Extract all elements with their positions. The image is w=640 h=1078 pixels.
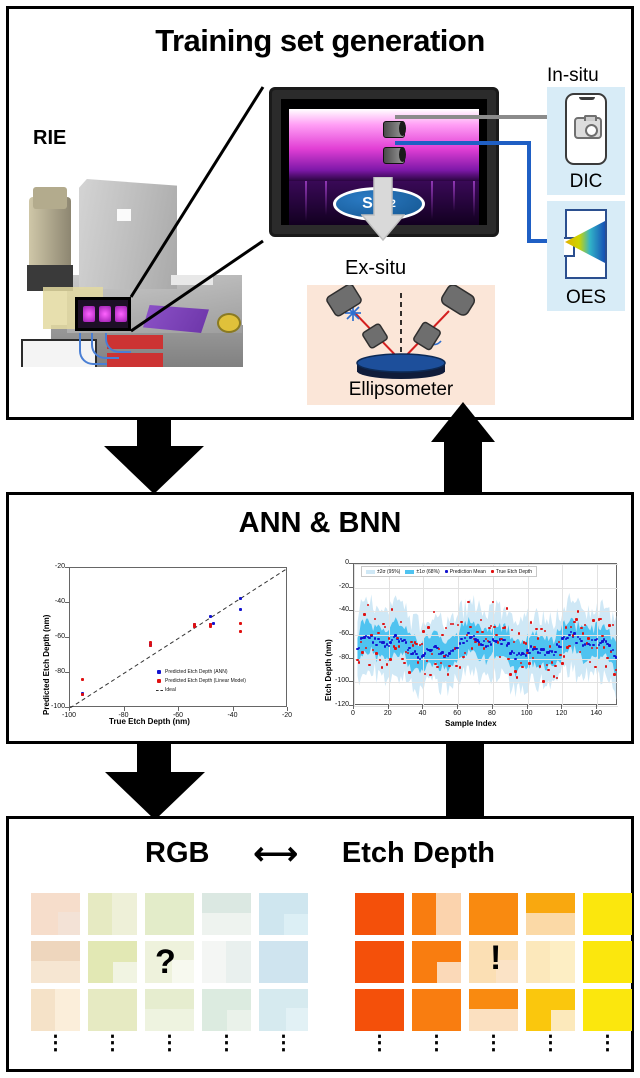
rgb-continuation-dots: ⋮⋮⋮⋮⋮: [31, 1041, 308, 1046]
rgb-subblock: [55, 989, 80, 1031]
true-depth-point: [520, 662, 522, 664]
true-depth-point: [554, 665, 556, 667]
depth-cell[interactable]: [469, 989, 518, 1031]
legend-swatch: [405, 570, 414, 574]
spectrum-fan-icon: [563, 219, 611, 265]
depth-ellipsis: ⋮: [583, 1041, 632, 1046]
true-depth-point: [433, 611, 435, 613]
legend-swatch: [157, 679, 161, 683]
true-depth-point: [565, 626, 567, 628]
depth-cell[interactable]: [583, 989, 632, 1031]
x-tick-label: 120: [551, 710, 571, 717]
depth-subblock: [355, 961, 404, 983]
true-depth-point: [363, 613, 365, 615]
true-depth-point: [412, 644, 414, 646]
true-depth-point: [361, 651, 363, 653]
depth-column: [355, 893, 404, 1031]
prediction-mean-point: [382, 641, 384, 643]
y-tick-label: -80: [45, 668, 65, 675]
dic-instrument: DIC: [547, 87, 625, 195]
true-depth-point: [459, 666, 461, 668]
prediction-mean-point: [575, 642, 577, 644]
arrow4-shaft: [446, 744, 484, 816]
x-tick-label: 140: [586, 710, 606, 717]
camera-icon: [574, 117, 602, 139]
dic-phone-icon: [565, 93, 607, 165]
depth-column: [583, 893, 632, 1031]
true-depth-point: [434, 663, 436, 665]
y-gridline: [354, 706, 618, 707]
legend-swatch: [366, 570, 375, 574]
y-tick: [65, 707, 69, 708]
x-tick-label: 60: [447, 710, 467, 717]
true-depth-point: [447, 673, 449, 675]
legend-label: ±2σ (95%): [377, 569, 400, 575]
true-depth-point: [381, 666, 383, 668]
true-depth-point: [540, 628, 542, 630]
depth-subblock: [382, 912, 404, 935]
true-depth-point: [497, 641, 499, 643]
rgb-subblock: [284, 914, 309, 935]
arrow2-shaft: [444, 440, 482, 494]
y-tick: [65, 602, 69, 603]
x-tick-label: 40: [412, 710, 432, 717]
x-tick: [69, 707, 70, 711]
true-depth-point: [382, 623, 384, 625]
rgb-subblock: [145, 1009, 194, 1031]
y-tick-label: -120: [327, 701, 349, 708]
depth-cell[interactable]: [526, 941, 575, 983]
legend-label: Prediction Mean: [450, 569, 486, 575]
prediction-mean-point: [568, 634, 570, 636]
true-depth-point: [535, 628, 537, 630]
depth-column: [526, 893, 575, 1031]
legend-label: Predicted Etch Depth (ANN): [165, 669, 228, 675]
rgb-cell[interactable]: [259, 941, 308, 983]
y-tick: [349, 681, 353, 682]
prediction-mean-point: [448, 652, 450, 654]
y-tick: [349, 587, 353, 588]
true-depth-point: [537, 637, 539, 639]
x-tick-label: -100: [60, 712, 78, 719]
x-tick: [457, 705, 458, 709]
y-tick: [65, 567, 69, 568]
depth-ellipsis: ⋮: [355, 1041, 404, 1046]
prediction-mean-point: [580, 640, 582, 642]
ideal-line: [70, 568, 288, 708]
legend-label: True Etch Depth: [496, 569, 532, 575]
true-depth-point: [584, 624, 586, 626]
page-title: Training set generation: [9, 23, 631, 59]
true-depth-point: [368, 664, 370, 666]
bnn-uncertainty-chart: Etch Depth (nm) Sample Index 02040608010…: [315, 551, 627, 737]
ellipsometer-label: Ellipsometer: [307, 379, 495, 401]
prediction-mean-point: [459, 642, 461, 644]
ann-point: [209, 615, 212, 618]
rgb-cell[interactable]: [202, 893, 251, 935]
x-tick: [388, 705, 389, 709]
true-depth-point: [460, 621, 462, 623]
true-depth-point: [546, 664, 548, 666]
true-depth-point: [587, 637, 589, 639]
rgb-cell[interactable]: [88, 989, 137, 1031]
prediction-mean-point: [388, 645, 390, 647]
true-depth-point: [528, 662, 530, 664]
true-depth-point: [495, 634, 497, 636]
y-tick-label: -60: [327, 630, 349, 637]
prediction-mean-point: [525, 654, 527, 656]
true-depth-point: [539, 665, 541, 667]
rgb-subblock: [286, 1008, 308, 1031]
depth-subblock: [436, 893, 461, 935]
legend-label: Predicted Etch Depth (Linear Model): [165, 678, 246, 684]
depth-cell[interactable]: [526, 989, 575, 1031]
x-tick: [527, 705, 528, 709]
arrow1-head: [104, 446, 204, 494]
x-tick-label: -40: [224, 712, 242, 719]
y-tick-label: -100: [45, 703, 65, 710]
true-depth-point: [375, 652, 377, 654]
prediction-mean-point: [535, 648, 537, 650]
ann-bnn-panel: ANN & BNN Predicted Etch Depth (nm) True…: [6, 492, 634, 744]
depth-subblock: [526, 913, 575, 935]
true-depth-point: [563, 655, 565, 657]
x-tick: [124, 707, 125, 711]
y-tick-label: -20: [327, 583, 349, 590]
true-depth-point: [592, 619, 594, 621]
y-gridline: [354, 588, 618, 589]
depth-cell[interactable]: [355, 989, 404, 1031]
legend-swatch: [157, 670, 161, 674]
true-depth-point: [427, 626, 429, 628]
rgb-ellipsis: ⋮: [202, 1041, 251, 1046]
true-depth-point: [408, 671, 410, 673]
prediction-mean-point: [374, 637, 376, 639]
true-depth-point: [493, 626, 495, 628]
rgb-cell[interactable]: [202, 941, 251, 983]
depth-column: [412, 893, 461, 1031]
rie-equipment-photo: [21, 157, 243, 367]
x-tick: [561, 705, 562, 709]
ellipsometer-illustration: Ellipsometer: [307, 285, 495, 405]
legend-label: Ideal: [165, 687, 176, 693]
y-tick: [349, 658, 353, 659]
x-tick: [287, 707, 288, 711]
depth-cell[interactable]: [355, 893, 404, 935]
y-tick-label: -40: [45, 598, 65, 605]
oes-label: OES: [547, 287, 625, 309]
depth-cell[interactable]: [412, 941, 461, 983]
y-tick-label: -20: [45, 563, 65, 570]
true-depth-point: [606, 657, 608, 659]
y-tick-label: -60: [45, 633, 65, 640]
linear-point: [209, 625, 212, 628]
x-tick: [233, 707, 234, 711]
true-depth-point: [429, 674, 431, 676]
prediction-mean-point: [473, 635, 475, 637]
x-tick-label: 20: [378, 710, 398, 717]
x-tick: [422, 705, 423, 709]
true-depth-point: [521, 666, 523, 668]
prediction-mean-point: [462, 642, 464, 644]
y-tick-label: -100: [327, 677, 349, 684]
rie-label: RIE: [33, 127, 66, 150]
magnified-region-box: [75, 297, 131, 331]
legend-label: ±1σ (68%): [416, 569, 439, 575]
rgb-cell[interactable]: [88, 941, 137, 983]
true-depth-point: [480, 619, 482, 621]
true-depth-point: [591, 647, 593, 649]
rgb-column: [202, 893, 251, 1031]
true-depth-point: [455, 665, 457, 667]
x-tick-label: 0: [343, 710, 363, 717]
depth-cell[interactable]: [412, 893, 461, 935]
arrow2-head: [431, 402, 495, 442]
ann-parity-chart: Predicted Etch Depth (nm) True Etch Dept…: [33, 555, 303, 735]
true-depth-point: [525, 642, 527, 644]
ann-point: [239, 608, 242, 611]
rgb-cell[interactable]: [259, 989, 308, 1031]
true-depth-point: [396, 637, 398, 639]
true-depth-point: [561, 662, 563, 664]
legend-swatch: [445, 570, 448, 573]
rgb-column: [31, 893, 80, 1031]
true-depth-point: [608, 624, 610, 626]
rgb-column: [259, 893, 308, 1031]
rgb-ellipsis: ⋮: [145, 1041, 194, 1046]
depth-ellipsis: ⋮: [526, 1041, 575, 1046]
prediction-mean-point: [551, 650, 553, 652]
y-tick: [65, 672, 69, 673]
depth-subblock: [608, 914, 633, 935]
true-depth-point: [388, 637, 390, 639]
legend-swatch: [491, 570, 494, 573]
oes-instrument: OES: [547, 201, 625, 311]
x-tick-label: 100: [517, 710, 537, 717]
bnn-legend: ±2σ (95%)±1σ (68%)Prediction MeanTrue Et…: [361, 566, 537, 577]
depth-cell[interactable]: [412, 989, 461, 1031]
y-tick-label: 0: [327, 559, 349, 566]
y-tick-label: -80: [327, 654, 349, 661]
unknown-question-mark: ?: [155, 943, 176, 982]
true-depth-point: [481, 631, 483, 633]
x-tick: [596, 705, 597, 709]
rgb-etch-depth-panel: RGB ⟷ Etch Depth ? ! ⋮⋮⋮⋮⋮ ⋮⋮⋮⋮⋮: [6, 816, 634, 1072]
depth-cell[interactable]: [583, 893, 632, 935]
y-tick: [349, 705, 353, 706]
depth-subblock: [550, 941, 575, 983]
prediction-mean-point: [573, 632, 575, 634]
true-depth-point: [467, 601, 469, 603]
depth-subblock: [551, 1010, 576, 1031]
prediction-mean-point: [405, 641, 407, 643]
true-depth-point: [514, 670, 516, 672]
arrow3-head: [105, 772, 205, 820]
bnn-xlabel: Sample Index: [445, 719, 497, 728]
rgb-cell[interactable]: [145, 989, 194, 1031]
known-exclamation-mark: !: [490, 939, 501, 978]
true-depth-point: [594, 666, 596, 668]
rgb-subblock: [113, 962, 138, 983]
y-tick: [65, 637, 69, 638]
depth-cell[interactable]: [526, 893, 575, 935]
linear-point: [81, 678, 84, 681]
rgb-subblock: [202, 913, 251, 935]
linear-point: [193, 625, 196, 628]
prediction-mean-point: [441, 651, 443, 653]
depth-cell[interactable]: [355, 941, 404, 983]
y-tick: [349, 634, 353, 635]
true-depth-point: [551, 661, 553, 663]
depth-cell[interactable]: [583, 941, 632, 983]
prediction-mean-point: [412, 652, 414, 654]
rgb-subblock: [58, 912, 80, 935]
x-tick-label: -20: [278, 712, 296, 719]
bidirectional-arrow-icon: ⟷: [253, 838, 297, 869]
parity-plot-area: [69, 567, 287, 707]
training-set-generation-panel: Training set generation RIE In-situ: [6, 6, 634, 420]
true-depth-point: [394, 647, 396, 649]
prediction-mean-point: [460, 638, 462, 640]
y-tick-label: -40: [327, 606, 349, 613]
rgb-ellipsis: ⋮: [31, 1041, 80, 1046]
true-depth-point: [462, 656, 464, 658]
rgb-cell[interactable]: [31, 941, 80, 983]
true-depth-point: [605, 665, 607, 667]
ex-situ-flow-arrow: [361, 177, 405, 241]
true-depth-point: [577, 610, 579, 612]
rgb-cell[interactable]: [202, 989, 251, 1031]
true-depth-point: [506, 607, 508, 609]
prediction-mean-point: [467, 632, 469, 634]
legend-dash: [156, 690, 163, 691]
true-depth-point: [579, 651, 581, 653]
true-depth-point: [377, 632, 379, 634]
rgb-subblock: [31, 961, 80, 983]
y-tick: [349, 563, 353, 564]
prediction-mean-point: [608, 644, 610, 646]
rgb-subblock: [226, 941, 251, 983]
depth-subblock: [610, 1008, 632, 1031]
x-tick: [353, 705, 354, 709]
true-depth-point: [518, 632, 520, 634]
rgb-ellipsis: ⋮: [88, 1041, 137, 1046]
prediction-mean-point: [375, 644, 377, 646]
true-depth-point: [568, 645, 570, 647]
dic-label: DIC: [547, 171, 625, 193]
y-gridline: [354, 564, 618, 565]
rgb-subblock: [227, 1010, 252, 1031]
prediction-mean-point: [415, 653, 417, 655]
x-tick-label: -60: [169, 712, 187, 719]
rgb-cell[interactable]: [88, 893, 137, 935]
rgb-cell[interactable]: [31, 989, 80, 1031]
ann-bnn-title: ANN & BNN: [9, 507, 631, 540]
rgb-cell[interactable]: [259, 893, 308, 935]
y-gridline: [354, 682, 618, 683]
true-depth-point: [542, 680, 544, 682]
prediction-mean-point: [601, 640, 603, 642]
depth-ellipsis: ⋮: [469, 1041, 518, 1046]
depth-continuation-dots: ⋮⋮⋮⋮⋮: [355, 1041, 632, 1046]
depth-subblock: [437, 962, 462, 983]
x-tick: [492, 705, 493, 709]
true-depth-point: [575, 618, 577, 620]
bnn-plot-area: [353, 563, 617, 705]
depth-subblock: [469, 1009, 518, 1031]
true-depth-point: [422, 630, 424, 632]
depth-cell[interactable]: [469, 893, 518, 935]
y-gridline: [354, 659, 618, 660]
rgb-label: RGB: [145, 837, 209, 870]
prediction-mean-point: [542, 648, 544, 650]
true-depth-point: [580, 627, 582, 629]
parity-ylabel: Predicted Etch Depth (nm): [42, 615, 51, 715]
in-situ-label: In-situ: [547, 65, 599, 87]
etch-depth-label: Etch Depth: [342, 837, 495, 870]
ann-point: [212, 622, 215, 625]
true-depth-point: [401, 658, 403, 660]
true-depth-point: [440, 662, 442, 664]
true-depth-point: [509, 673, 511, 675]
x-tick-label: -80: [115, 712, 133, 719]
true-depth-point: [613, 673, 615, 675]
true-depth-point: [603, 646, 605, 648]
rgb-cell[interactable]: [145, 893, 194, 935]
prediction-mean-point: [372, 641, 374, 643]
linear-point: [239, 622, 242, 625]
x-tick-label: 80: [482, 710, 502, 717]
prediction-mean-point: [481, 644, 483, 646]
rgb-column: [88, 893, 137, 1031]
true-depth-point: [389, 658, 391, 660]
true-depth-point: [407, 652, 409, 654]
x-tick: [178, 707, 179, 711]
rgb-cell[interactable]: [31, 893, 80, 935]
depth-subblock: [379, 989, 404, 1031]
true-depth-point: [471, 647, 473, 649]
rgb-ellipsis: ⋮: [259, 1041, 308, 1046]
bnn-ylabel: Etch Depth (nm): [324, 639, 333, 701]
true-depth-point: [386, 663, 388, 665]
prediction-mean-point: [389, 641, 391, 643]
ann-point: [239, 597, 242, 600]
prediction-mean-point: [507, 642, 509, 644]
ex-situ-label: Ex-situ: [345, 257, 406, 280]
y-tick: [349, 610, 353, 611]
true-depth-point: [553, 675, 555, 677]
rgb-subblock: [112, 893, 137, 935]
rgb-depth-header: RGB ⟷ Etch Depth: [9, 837, 631, 870]
depth-ellipsis: ⋮: [412, 1041, 461, 1046]
